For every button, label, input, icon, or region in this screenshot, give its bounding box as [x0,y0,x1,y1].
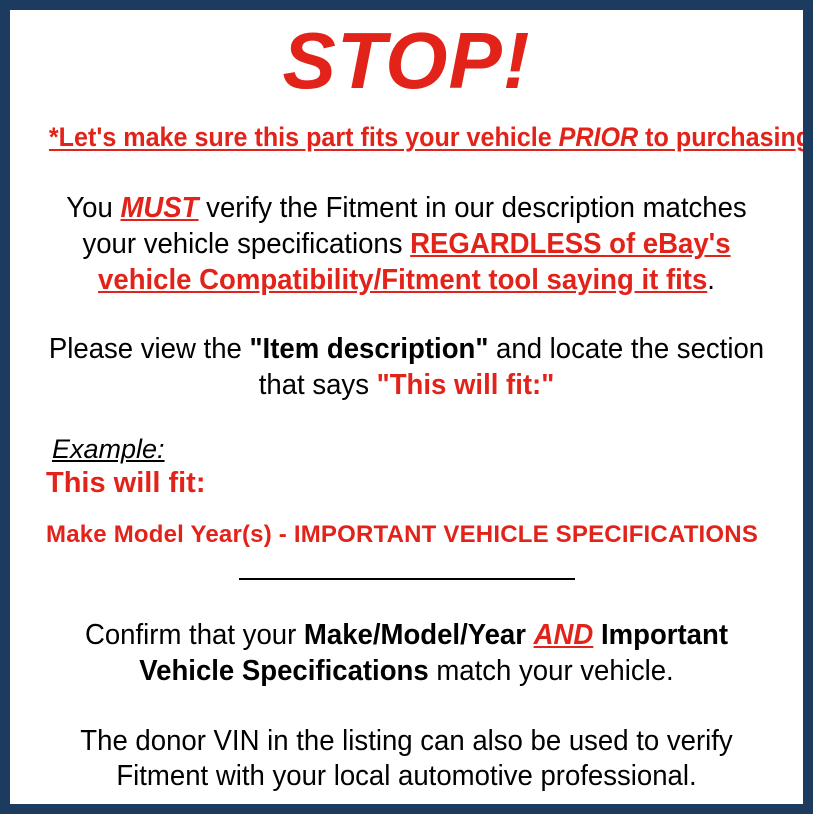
paragraph-confirm-match: Confirm that your Make/Model/Year AND Im… [41,618,772,689]
example-fit-heading: This will fit: [46,467,791,499]
this-will-fit-emphasis: "This will fit:" [377,369,555,401]
fitment-notice-card: STOP! *Let's make sure this part fits yo… [0,0,813,814]
subtitle-emphasis-prior: PRIOR [559,122,639,152]
subtitle-text-before: *Let's make sure this part fits your veh… [49,122,559,152]
make-model-year-emphasis: Make/Model/Year [304,619,526,651]
example-spec-line: Make Model Year(s) - IMPORTANT VEHICLE S… [46,521,791,548]
example-label: Example: [52,434,791,465]
must-text-3: . [707,264,715,296]
paragraph-must-verify: You MUST verify the Fitment in our descr… [41,191,772,298]
fitment-subtitle: *Let's make sure this part fits your veh… [49,122,764,154]
must-emphasis: MUST [120,192,198,224]
description-text-1: Please view the [49,333,250,365]
item-description-emphasis: "Item description" [249,333,488,365]
stop-headline: STOP! [22,10,791,106]
paragraph-donor-vin: The donor VIN in the listing can also be… [41,724,772,795]
must-text-1: You [66,192,120,224]
confirm-text-2: match your vehicle. [429,655,674,687]
example-block: Example: This will fit: Make Model Year(… [22,434,791,549]
horizontal-rule [239,578,575,580]
divider-container [22,570,791,588]
and-emphasis: AND [534,619,594,651]
confirm-text-1: Confirm that your [85,619,304,651]
notice-content: STOP! *Let's make sure this part fits yo… [10,10,803,804]
paragraph-item-description: Please view the "Item description" and l… [41,332,772,403]
subtitle-text-after: to purchasing* [638,122,813,152]
